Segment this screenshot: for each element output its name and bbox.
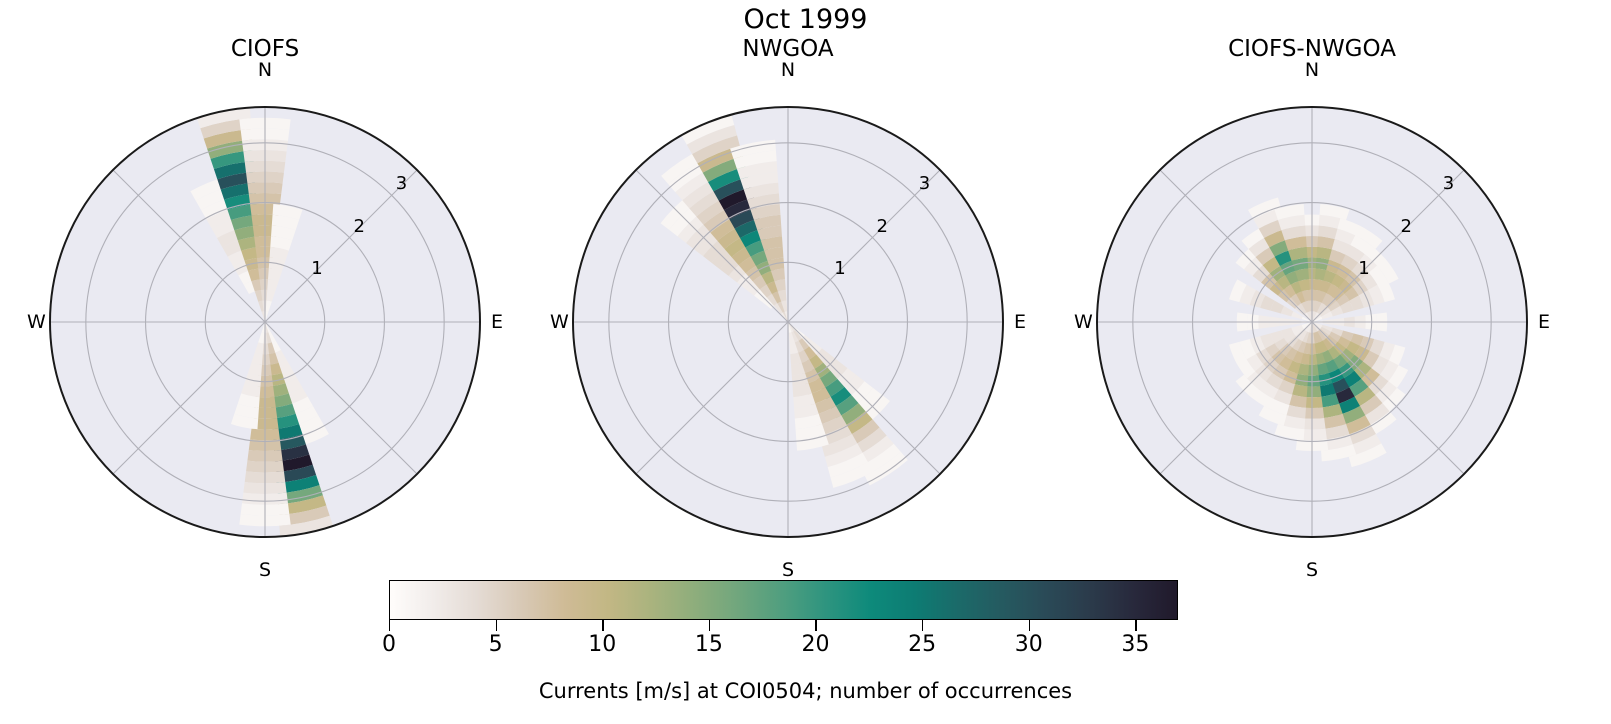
radial-tick-label: 2	[876, 216, 887, 237]
polar-plot	[556, 90, 1020, 554]
radial-tick-label: 2	[1400, 216, 1411, 237]
colorbar-tick	[1135, 620, 1136, 631]
colorbar-tick-label: 10	[588, 632, 616, 658]
compass-label-s: S	[259, 560, 271, 580]
compass-label-e: E	[1538, 312, 1550, 332]
compass-label-w: W	[27, 312, 46, 332]
compass-label-n: N	[781, 60, 795, 80]
colorbar-gradient	[389, 580, 1178, 620]
compass-label-n: N	[1305, 60, 1319, 80]
compass-label-w: W	[1074, 312, 1093, 332]
panel-ciofs-nwgoa: CIOFS-NWGOA123NESW	[1080, 0, 1544, 600]
figure-canvas: Oct 1999 CIOFS123NESWNWGOA123NESWCIOFS-N…	[0, 0, 1611, 724]
compass-label-e: E	[1014, 312, 1026, 332]
radial-tick-label: 1	[311, 258, 322, 279]
colorbar[interactable]: 05101520253035	[389, 580, 1178, 620]
colorbar-tick-label: 20	[801, 632, 829, 658]
colorbar-tick	[496, 620, 497, 631]
compass-label-w: W	[550, 312, 569, 332]
polar-axes[interactable]: 123	[556, 90, 1020, 554]
polar-plot	[33, 90, 497, 554]
colorbar-tick-label: 5	[489, 632, 503, 658]
colorbar-ticks	[389, 620, 1178, 632]
colorbar-tick	[1029, 620, 1030, 631]
radial-tick-label: 1	[834, 258, 845, 279]
colorbar-tick-label: 30	[1015, 632, 1043, 658]
compass-label-s: S	[782, 560, 794, 580]
colorbar-tick	[815, 620, 816, 631]
colorbar-tick	[389, 620, 390, 631]
colorbar-label: Currents [m/s] at COI0504; number of occ…	[0, 678, 1611, 704]
polar-axes[interactable]: 123	[33, 90, 497, 554]
radial-tick-label: 1	[1358, 258, 1369, 279]
colorbar-tick	[709, 620, 710, 631]
panel-ciofs: CIOFS123NESW	[33, 0, 497, 600]
colorbar-tick-label: 25	[908, 632, 936, 658]
compass-label-e: E	[491, 312, 503, 332]
radial-tick-label: 3	[919, 173, 930, 194]
polar-axes[interactable]: 123	[1080, 90, 1544, 554]
colorbar-tick-label: 15	[695, 632, 723, 658]
colorbar-tick-labels: 05101520253035	[389, 632, 1178, 658]
compass-label-s: S	[1306, 560, 1318, 580]
compass-label-n: N	[258, 60, 272, 80]
colorbar-tick	[602, 620, 603, 631]
radial-tick-label: 3	[396, 173, 407, 194]
radial-tick-label: 3	[1443, 173, 1454, 194]
colorbar-tick-label: 0	[382, 632, 396, 658]
radial-tick-label: 2	[353, 216, 364, 237]
panel-nwgoa: NWGOA123NESW	[556, 0, 1020, 600]
colorbar-tick	[922, 620, 923, 631]
colorbar-tick-label: 35	[1121, 632, 1149, 658]
polar-plot	[1080, 90, 1544, 554]
